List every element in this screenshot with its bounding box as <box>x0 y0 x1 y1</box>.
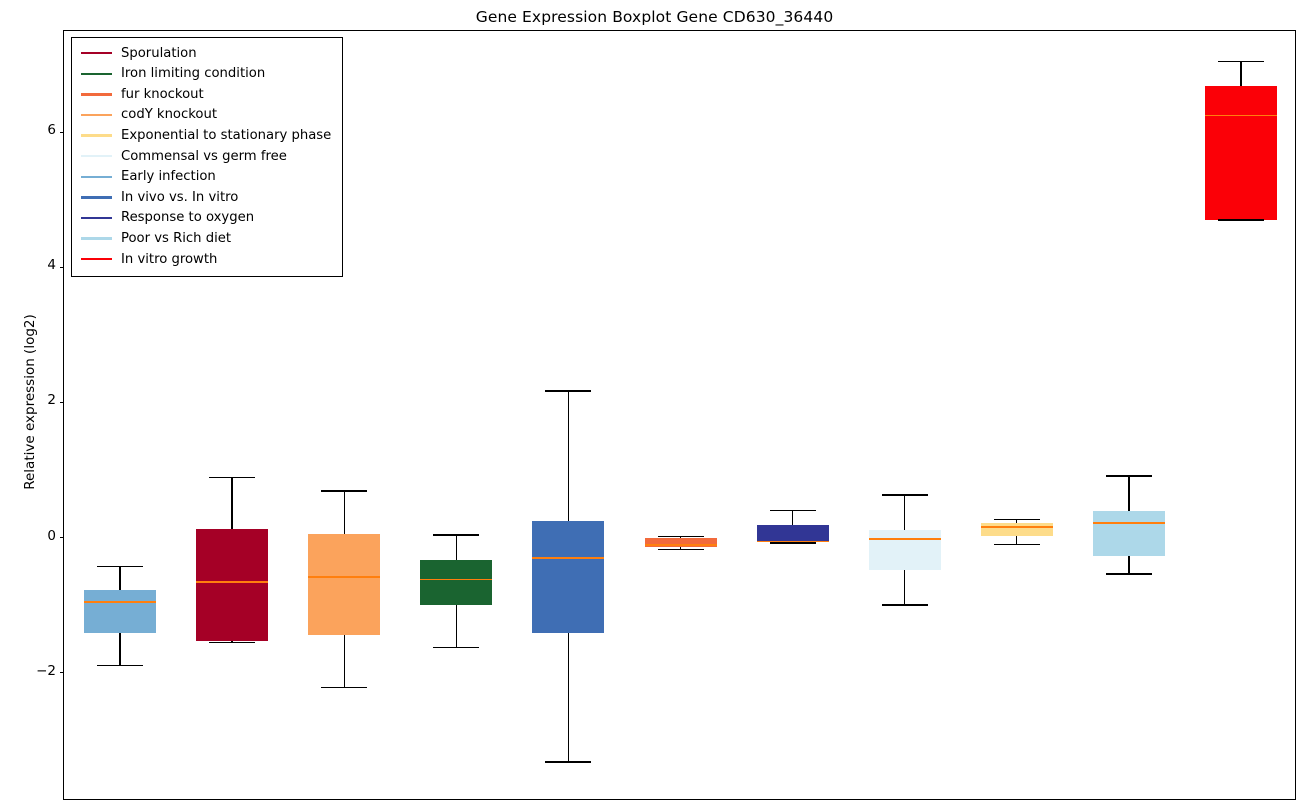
box-body <box>1205 86 1277 220</box>
legend-label: Exponential to stationary phase <box>121 129 331 142</box>
legend-label: codY knockout <box>121 108 217 121</box>
median-line <box>532 557 604 559</box>
legend-label: Commensal vs germ free <box>121 150 287 163</box>
legend-color-swatch <box>81 52 112 54</box>
median-line <box>196 581 268 583</box>
legend-color-swatch <box>81 217 112 219</box>
boxplot-box <box>420 31 492 801</box>
legend-item: Commensal vs germ free <box>72 146 342 167</box>
legend-color-swatch <box>81 237 112 239</box>
box-body <box>308 534 380 635</box>
box-body <box>757 525 829 541</box>
legend-color-swatch <box>81 155 112 157</box>
box-body <box>981 523 1053 537</box>
median-line <box>1205 115 1277 117</box>
box-body <box>869 530 941 570</box>
legend-color-swatch <box>81 196 112 198</box>
median-line <box>420 579 492 581</box>
boxplot-box <box>869 31 941 801</box>
cap-upper <box>321 490 367 491</box>
boxplot-box <box>645 31 717 801</box>
legend-label: Early infection <box>121 170 216 183</box>
y-tick-mark <box>60 267 64 268</box>
whisker-upper <box>231 477 232 528</box>
whisker-upper <box>792 511 793 525</box>
legend: SporulationIron limiting conditionfur kn… <box>71 37 343 277</box>
whisker-lower <box>344 635 345 688</box>
box-body <box>84 590 156 633</box>
y-tick-label: 6 <box>47 122 56 138</box>
chart-title: Gene Expression Boxplot Gene CD630_36440 <box>0 8 1309 26</box>
cap-lower <box>770 542 816 543</box>
median-line <box>1093 522 1165 524</box>
legend-item: fur knockout <box>72 84 342 105</box>
cap-upper <box>882 494 928 495</box>
cap-lower <box>994 544 1040 545</box>
y-tick-label: −2 <box>36 663 56 679</box>
legend-label: In vivo vs. In vitro <box>121 191 238 204</box>
median-line <box>308 576 380 578</box>
whisker-lower <box>568 633 569 761</box>
legend-color-swatch <box>81 176 112 178</box>
cap-lower <box>321 687 367 688</box>
box-body <box>1093 511 1165 556</box>
whisker-lower <box>456 605 457 648</box>
legend-item: Response to oxygen <box>72 208 342 229</box>
boxplot-box <box>1205 31 1277 801</box>
median-line <box>869 538 941 540</box>
y-axis-label: Relative expression (log2) <box>22 262 38 542</box>
y-tick-label: 2 <box>47 392 56 408</box>
y-tick-mark <box>60 537 64 538</box>
cap-lower <box>882 604 928 605</box>
boxplot-box <box>981 31 1053 801</box>
y-tick-mark <box>60 132 64 133</box>
whisker-upper <box>904 495 905 530</box>
cap-upper <box>994 519 1040 520</box>
cap-upper <box>770 510 816 511</box>
legend-item: In vivo vs. In vitro <box>72 187 342 208</box>
boxplot-box <box>757 31 829 801</box>
median-line <box>84 601 156 603</box>
legend-item: Iron limiting condition <box>72 64 342 85</box>
cap-upper <box>97 566 143 567</box>
whisker-upper <box>568 391 569 521</box>
legend-item: In vitro growth <box>72 249 342 270</box>
figure: Gene Expression Boxplot Gene CD630_36440… <box>0 0 1309 812</box>
cap-lower <box>545 761 591 762</box>
legend-item: Sporulation <box>72 43 342 64</box>
median-line <box>645 544 717 546</box>
legend-item: Early infection <box>72 167 342 188</box>
box-body <box>196 529 268 641</box>
cap-upper <box>209 477 255 478</box>
legend-label: Response to oxygen <box>121 211 254 224</box>
whisker-lower <box>904 570 905 605</box>
cap-lower <box>209 642 255 643</box>
legend-label: In vitro growth <box>121 253 217 266</box>
y-tick-mark <box>60 402 64 403</box>
legend-item: Exponential to stationary phase <box>72 125 342 146</box>
whisker-lower <box>1128 556 1129 574</box>
whisker-upper <box>1128 476 1129 511</box>
legend-label: fur knockout <box>121 88 204 101</box>
cap-upper <box>658 536 704 537</box>
whisker-upper <box>1240 61 1241 86</box>
cap-lower <box>433 647 479 648</box>
cap-lower <box>1218 219 1264 220</box>
legend-color-swatch <box>81 114 112 116</box>
whisker-lower <box>119 633 120 665</box>
y-tick-label: 0 <box>47 528 56 544</box>
median-line <box>981 526 1053 528</box>
legend-item: codY knockout <box>72 105 342 126</box>
cap-upper <box>545 390 591 391</box>
y-tick-mark <box>60 672 64 673</box>
cap-upper <box>433 534 479 535</box>
cap-upper <box>1218 61 1264 62</box>
boxplot-box <box>532 31 604 801</box>
legend-label: Iron limiting condition <box>121 67 265 80</box>
box-body <box>532 521 604 634</box>
legend-label: Sporulation <box>121 47 197 60</box>
legend-color-swatch <box>81 134 112 136</box>
box-body <box>420 560 492 605</box>
cap-lower <box>97 665 143 666</box>
legend-color-swatch <box>81 93 112 95</box>
y-tick-label: 4 <box>47 257 56 273</box>
legend-label: Poor vs Rich diet <box>121 232 231 245</box>
boxplot-box <box>1093 31 1165 801</box>
whisker-upper <box>456 535 457 560</box>
cap-lower <box>1106 573 1152 574</box>
whisker-upper <box>119 567 120 591</box>
legend-color-swatch <box>81 73 112 75</box>
legend-color-swatch <box>81 258 112 260</box>
whisker-upper <box>344 491 345 534</box>
legend-item: Poor vs Rich diet <box>72 228 342 249</box>
cap-lower <box>658 549 704 550</box>
median-line <box>757 541 829 543</box>
cap-upper <box>1106 475 1152 476</box>
